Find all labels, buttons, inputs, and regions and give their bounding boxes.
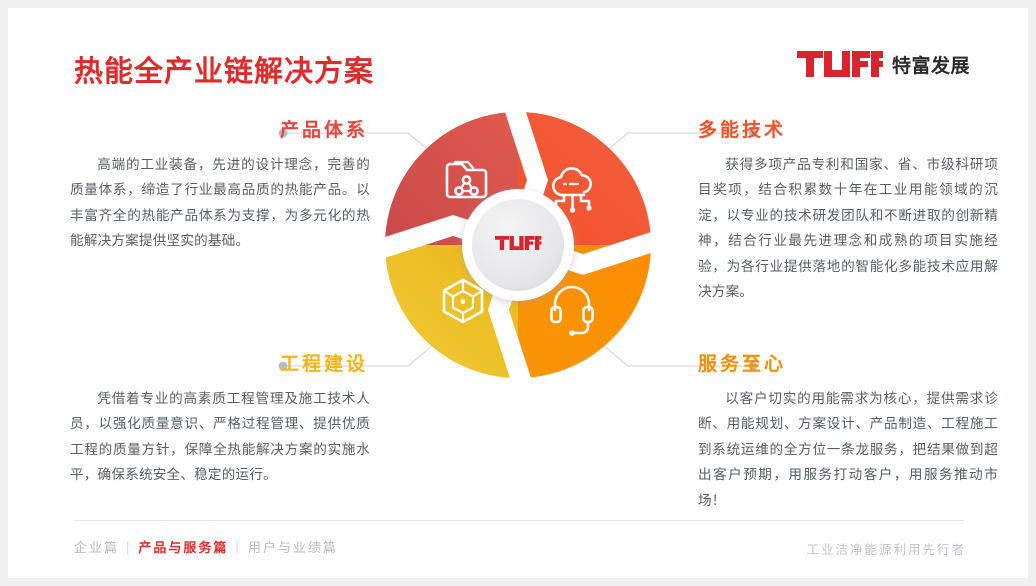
page-title: 热能全产业链解决方案 bbox=[74, 48, 374, 90]
tuff-logo-icon bbox=[797, 51, 883, 77]
footer-nav-item-customers-performance[interactable]: 用户与业绩篇 bbox=[248, 537, 338, 556]
quadrant-tech-body: 获得多项产品专利和国家、省、市级科研项目奖项，结合积累数十年在工业用能领域的沉淀… bbox=[698, 152, 998, 305]
quadrant-service-title: 服务至心 bbox=[698, 354, 998, 377]
quadrant-engineer: 工程建设 凭借着专业的高素质工程管理及施工技术人员，以强化质量意识、严格过程管理… bbox=[70, 354, 370, 488]
quadrant-product: 产品体系 高端的工业装备，先进的设计理念，完善的质量体系，缔造了行业最高品质的热… bbox=[70, 120, 370, 254]
footer-nav-item-products-services[interactable]: 产品与服务篇 bbox=[138, 537, 228, 556]
footer-divider bbox=[74, 520, 964, 521]
quadrant-service: 服务至心 以客户切实的用能需求为核心，提供需求诊断、用能规划、方案设计、产品制造… bbox=[698, 354, 998, 513]
brand-logo: 特富发展 bbox=[797, 50, 970, 78]
quadrant-service-body: 以客户切实的用能需求为核心，提供需求诊断、用能规划、方案设计、产品制造、工程施工… bbox=[698, 386, 998, 514]
quadrant-engineer-title: 工程建设 bbox=[70, 354, 370, 377]
slide-canvas: 热能全产业链解决方案 特富发展 bbox=[8, 8, 1028, 578]
brand-name-cn: 特富发展 bbox=[892, 51, 970, 78]
footer-nav-item-enterprise[interactable]: 企业篇 bbox=[74, 537, 119, 556]
footer-tagline: 工业洁净能源利用先行者 bbox=[806, 539, 966, 558]
footer-nav-separator: | bbox=[126, 539, 131, 554]
quadrant-engineer-body: 凭借着专业的高素质工程管理及施工技术人员，以强化质量意识、严格过程管理、提供优质… bbox=[70, 386, 370, 488]
process-wheel-diagram bbox=[385, 112, 651, 378]
footer-nav: 企业篇 | 产品与服务篇 | 用户与业绩篇 bbox=[74, 537, 338, 556]
quadrant-tech: 多能技术 获得多项产品专利和国家、省、市级科研项目奖项，结合积累数十年在工业用能… bbox=[698, 120, 998, 305]
footer-nav-separator: | bbox=[235, 539, 240, 554]
quadrant-product-body: 高端的工业装备，先进的设计理念，完善的质量体系，缔造了行业最高品质的热能产品。以… bbox=[70, 152, 370, 254]
quadrant-product-title: 产品体系 bbox=[70, 120, 370, 143]
quadrant-tech-title: 多能技术 bbox=[698, 120, 998, 143]
